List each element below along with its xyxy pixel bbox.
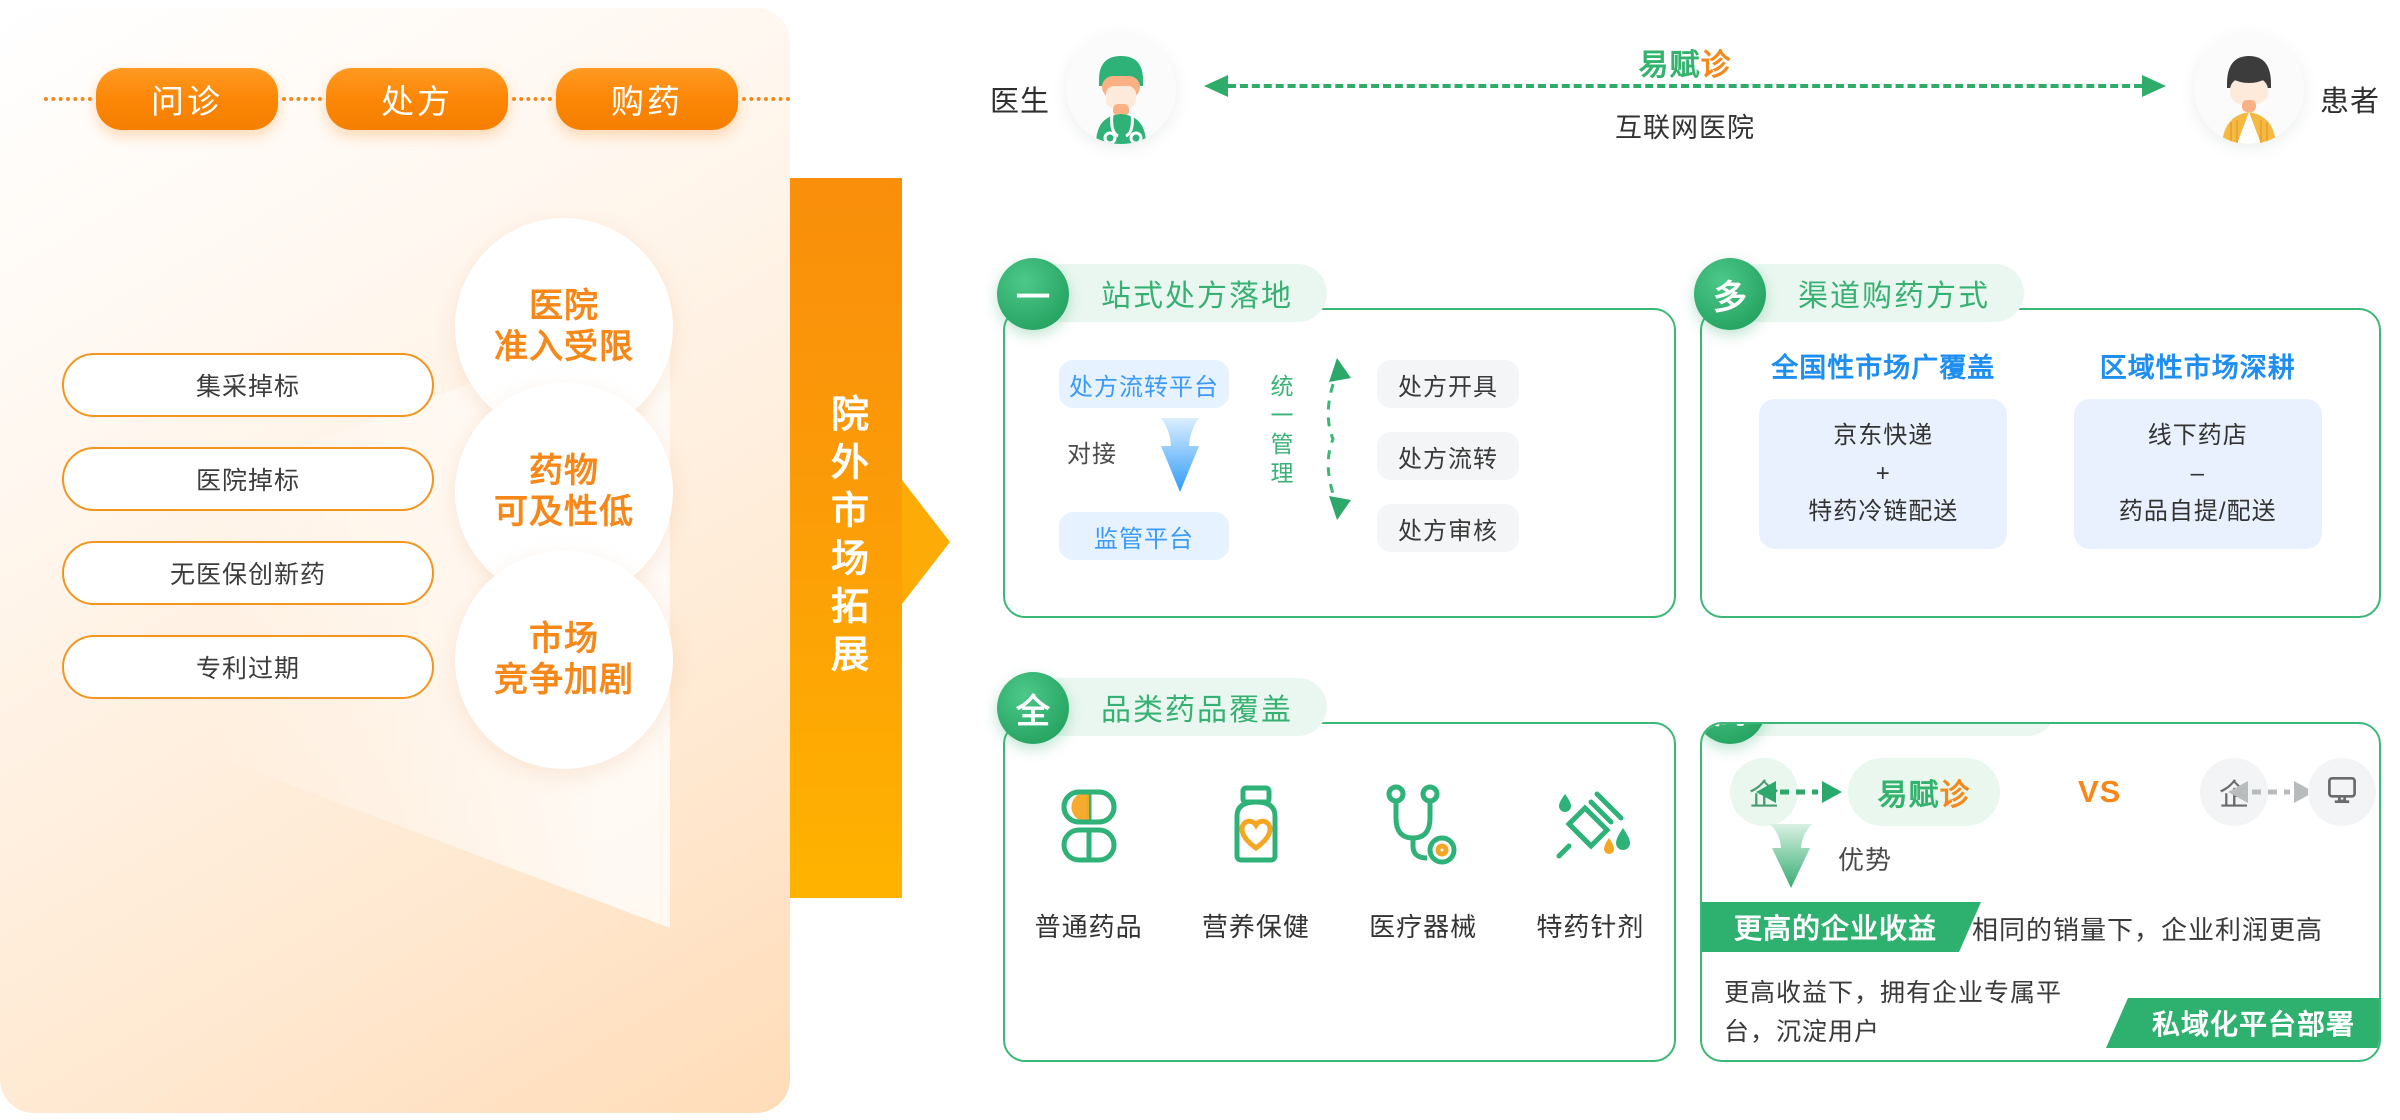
private-platform-banner: 私域化平台部署 <box>2106 998 2381 1048</box>
brand-logo-tag: 易赋诊 <box>1848 758 2000 826</box>
card-badge: 一 <box>997 258 1069 330</box>
outcome-line-2: 可及性低 <box>494 492 634 533</box>
supplement-bottle-icon <box>1213 782 1299 873</box>
brand-orange-text: 诊 <box>1701 49 1732 82</box>
patient-label: 患者 <box>2320 78 2380 120</box>
capsule-icon <box>1046 782 1132 873</box>
stethoscope-icon <box>1380 782 1466 873</box>
dash-connector <box>44 97 92 101</box>
outcome-line-2: 准入受限 <box>494 327 634 368</box>
left-panel: 问诊 处方 购药 集采掉标 医院掉标 无医保创新药 专利过期 医院 准入受限 药… <box>0 8 790 1113</box>
flow-step-1[interactable]: 问诊 <box>96 68 278 130</box>
column-line: 线下药店 <box>2148 417 2248 455</box>
card-business-model: 性价比商业模式 高 企 易赋诊 VS 企 <box>1700 722 2381 1062</box>
column-title: 区域性市场深耕 <box>2029 346 2368 385</box>
outcome-line-1: 药物 <box>529 451 599 492</box>
reason-item[interactable]: 专利过期 <box>62 635 434 699</box>
card-badge: 全 <box>997 672 1069 744</box>
card-prescription-landing: 站式处方落地 一 处方流转平台 对接 监管平台 统一管理 处方开具 处方流转 <box>1003 308 1676 618</box>
monitor-icon <box>2324 772 2360 813</box>
column-line: 特药冷链配送 <box>1808 493 1958 531</box>
dashed-line <box>1228 84 2142 88</box>
brand-green-text: 易赋 <box>1639 49 1701 82</box>
product-item: 营养保健 <box>1181 782 1331 944</box>
connector-caption: 互联网医院 <box>1204 106 2166 145</box>
syringe-icon <box>1547 782 1633 873</box>
column-box: 京东快递 + 特药冷链配送 <box>1759 399 2007 549</box>
double-arrow-grey-icon <box>2228 778 2314 806</box>
reason-item[interactable]: 医院掉标 <box>62 447 434 511</box>
transition-arrow-label: 院外市场拓展 <box>790 178 902 898</box>
down-arrow-icon <box>1153 418 1207 492</box>
column-line: + <box>1876 455 1891 493</box>
flow-step-2[interactable]: 处方 <box>326 68 508 130</box>
arrow-right-icon <box>2142 75 2166 97</box>
channel-column-regional: 区域性市场深耕 线下药店 – 药品自提/配送 <box>2029 346 2368 549</box>
column-title: 全国性市场广覆盖 <box>1714 346 2053 385</box>
channel-column-national: 全国性市场广覆盖 京东快递 + 特药冷链配送 <box>1714 346 2053 549</box>
product-label: 营养保健 <box>1202 907 1310 944</box>
card-title: 站式处方落地 <box>1101 271 1293 315</box>
doctor-patient-connector: 易赋诊 互联网医院 <box>1204 84 2166 88</box>
step-chip-transfer[interactable]: 处方流转 <box>1377 432 1519 480</box>
product-label: 医疗器械 <box>1369 907 1477 944</box>
card-product-coverage: 品类药品覆盖 全 普通药品 <box>1003 722 1676 1062</box>
column-box: 线下药店 – 药品自提/配送 <box>2074 399 2322 549</box>
brand-green-text: 易赋 <box>1878 770 1940 814</box>
brand-orange-text: 诊 <box>1940 770 1971 814</box>
monitor-tag <box>2308 758 2376 826</box>
doctor-label: 医生 <box>990 78 1050 120</box>
reason-list: 集采掉标 医院掉标 无医保创新药 专利过期 <box>62 353 434 729</box>
column-line: 京东快递 <box>1833 417 1933 455</box>
card-title-pill: 站式处方落地 <box>1033 264 1327 322</box>
column-line: – <box>2191 455 2205 493</box>
brace-arrow-icon <box>1303 350 1369 528</box>
product-item: 特药针剂 <box>1515 782 1665 944</box>
outcome-line-1: 医院 <box>529 286 599 327</box>
doctor-avatar <box>1066 34 1176 144</box>
card-purchase-channels: 渠道购药方式 多 全国性市场广覆盖 京东快递 + 特药冷链配送 区域性市场深耕 … <box>1700 308 2381 618</box>
dash-connector <box>512 97 552 101</box>
platform-flow-chip[interactable]: 处方流转平台 <box>1059 360 1229 408</box>
product-item: 普通药品 <box>1014 782 1164 944</box>
arrow-left-icon <box>1204 75 1228 97</box>
vs-label: VS <box>2078 774 2121 810</box>
card-title: 品类药品覆盖 <box>1101 685 1293 729</box>
card-badge: 多 <box>1694 258 1766 330</box>
reason-item[interactable]: 无医保创新药 <box>62 541 434 605</box>
patient-avatar <box>2194 34 2304 144</box>
arrow-head-icon <box>902 480 950 604</box>
outcome-circle-3: 市场 竞争加剧 <box>455 551 673 769</box>
brand-logo-top: 易赋诊 <box>1204 40 2166 84</box>
link-label: 对接 <box>1067 434 1117 469</box>
card-title-pill: 渠道购药方式 <box>1730 264 2024 322</box>
product-item: 医疗器械 <box>1348 782 1498 944</box>
benefit-banner: 更高的企业收益 <box>1700 902 1981 952</box>
outcome-line-1: 市场 <box>529 619 599 660</box>
step-chip-issue[interactable]: 处方开具 <box>1377 360 1519 408</box>
doctor-patient-row: 医生 易赋诊 互联网医院 <box>990 22 2380 152</box>
flow-step-3[interactable]: 购药 <box>556 68 738 130</box>
dash-connector <box>282 97 322 101</box>
card-title: 性价比商业模式 <box>1798 722 2022 729</box>
regulator-platform-chip[interactable]: 监管平台 <box>1059 512 1229 560</box>
infographic-canvas: 问诊 处方 购药 集采掉标 医院掉标 无医保创新药 专利过期 医院 准入受限 药… <box>0 0 2400 1120</box>
dash-connector <box>742 97 790 101</box>
benefit-note: 相同的销量下，企业利润更高 <box>1972 910 2323 947</box>
card-title-pill: 品类药品覆盖 <box>1033 678 1327 736</box>
column-line: 药品自提/配送 <box>2119 493 2277 531</box>
product-label: 普通药品 <box>1035 907 1143 944</box>
product-icon-row: 普通药品 营养保健 <box>1005 782 1674 944</box>
double-arrow-green-icon <box>1756 778 1842 806</box>
patient-journey-flow: 问诊 处方 购药 <box>44 63 744 135</box>
step-chip-review[interactable]: 处方审核 <box>1377 504 1519 552</box>
product-label: 特药针剂 <box>1536 907 1644 944</box>
outcome-line-2: 竞争加剧 <box>494 660 634 701</box>
advantage-label: 优势 <box>1838 840 1892 877</box>
card-title: 渠道购药方式 <box>1798 271 1990 315</box>
platform-note: 更高收益下，拥有企业专属平台，沉淀用户 <box>1724 974 2104 1052</box>
reason-item[interactable]: 集采掉标 <box>62 353 434 417</box>
unified-management-label: 统一管理 <box>1269 374 1295 490</box>
advantage-arrow-icon <box>1764 824 1818 888</box>
card-title-pill: 性价比商业模式 <box>1730 722 2056 736</box>
comparison-row: 企 易赋诊 VS 企 <box>1730 758 2361 828</box>
